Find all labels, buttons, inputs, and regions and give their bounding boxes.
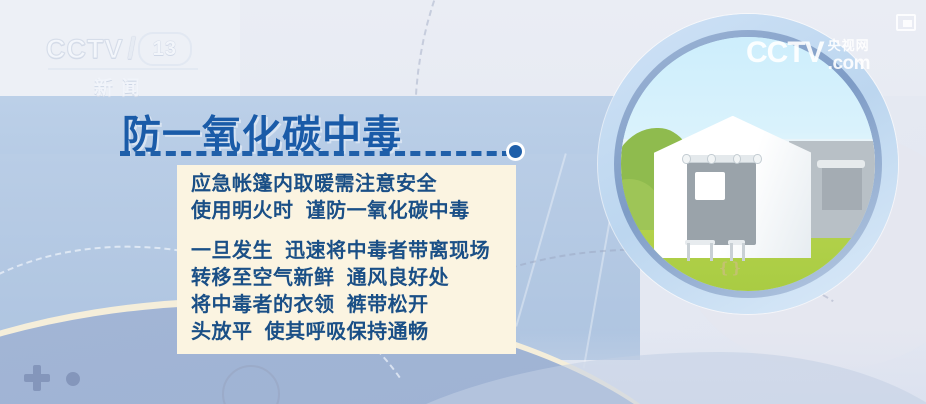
channel-logo-rule [48, 68, 198, 70]
channel-logo-text: CCTV [46, 34, 124, 65]
caption-block-warning: 应急帐篷内取暖需注意安全 使用明火时 谨防一氧化碳中毒 [177, 165, 516, 233]
caption-line: 头放平 使其呼吸保持通畅 [191, 319, 502, 346]
channel-logo-separator: / [128, 32, 137, 66]
tent-bench-leg [730, 243, 733, 261]
tent-rail-knob [753, 154, 762, 165]
tent-window [695, 172, 725, 200]
illustration-scene: ❴❵ [621, 37, 875, 291]
caption-line: 一旦发生 迅速将中毒者带离现场 [191, 238, 502, 265]
caption-block-firstaid: 一旦发生 迅速将中毒者带离现场 转移至空气新鲜 通风良好处 将中毒者的衣领 裤带… [177, 232, 516, 354]
picture-in-picture-icon[interactable] [896, 14, 916, 31]
tent-bench-leg [710, 243, 713, 261]
caption-line: 应急帐篷内取暖需注意安全 [191, 171, 502, 198]
dot-icon [66, 372, 80, 386]
caption-line: 使用明火时 谨防一氧化碳中毒 [191, 198, 502, 225]
tent-bench-leg [742, 243, 745, 261]
tent-awning-rail [683, 155, 759, 163]
channel-number: 13 [138, 32, 192, 66]
headline-dashed-rule [120, 151, 512, 156]
broadcast-frame: CCTV / 13 新闻 防一氧化碳中毒 应急帐篷内取暖需注意安全 使用明火时 … [0, 0, 926, 404]
channel-logo-row: CCTV / 13 [46, 32, 232, 66]
scene-building-flap [822, 164, 863, 210]
illustration-circle: ❴❵ [598, 14, 898, 314]
grass-tuft-icon: ❴❵ [718, 262, 740, 276]
tent-rail-knob [682, 154, 691, 165]
caption-line: 转移至空气新鲜 通风良好处 [191, 265, 502, 292]
headline-end-dot [509, 145, 522, 158]
plus-icon [24, 365, 50, 391]
tent-bench-leg [687, 243, 690, 261]
scene-building-rail [817, 160, 865, 168]
channel-subtitle: 新闻 [46, 73, 196, 100]
caption-line: 将中毒者的衣领 裤带松开 [191, 292, 502, 319]
channel-logo: CCTV / 13 新闻 [46, 32, 232, 94]
